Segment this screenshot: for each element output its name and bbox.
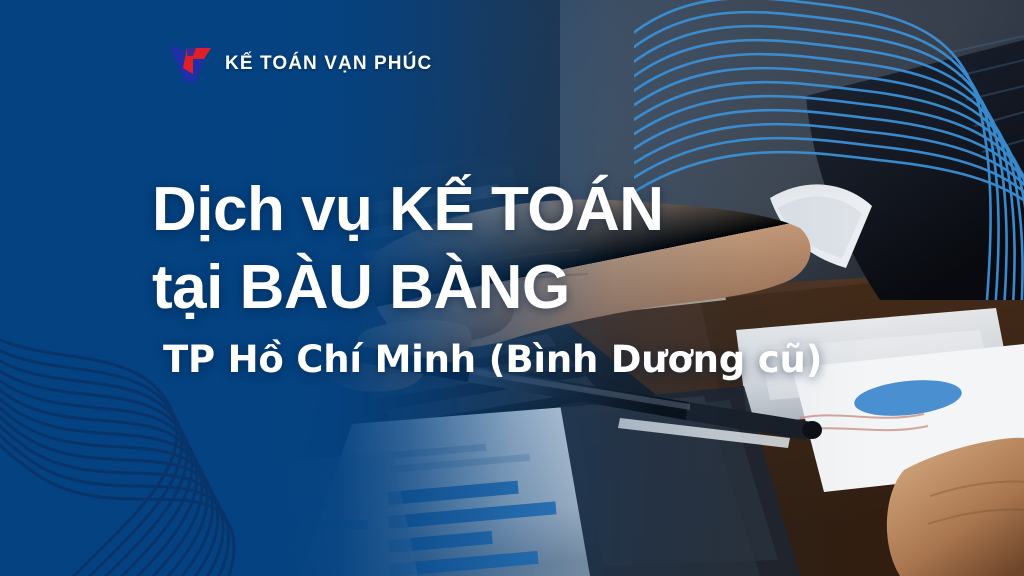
brand-logo[interactable]: KẾ TOÁN VẠN PHÚC [168, 44, 432, 84]
headline-line-2: tại BÀU BÀNG [152, 246, 822, 330]
headline-line-1: Dịch vụ KẾ TOÁN [152, 168, 822, 252]
brand-logo-text: KẾ TOÁN VẠN PHÚC [225, 53, 432, 75]
hero-banner: KẾ TOÁN VẠN PHÚC Dịch vụ KẾ TOÁN tại BÀU… [0, 0, 1024, 576]
headline-line-3: TP Hồ Chí Minh (Bình Dương cũ) [163, 332, 822, 388]
vp-monogram-icon [168, 44, 216, 84]
hero-headline: Dịch vụ KẾ TOÁN tại BÀU BÀNG TP Hồ Chí M… [152, 168, 822, 388]
